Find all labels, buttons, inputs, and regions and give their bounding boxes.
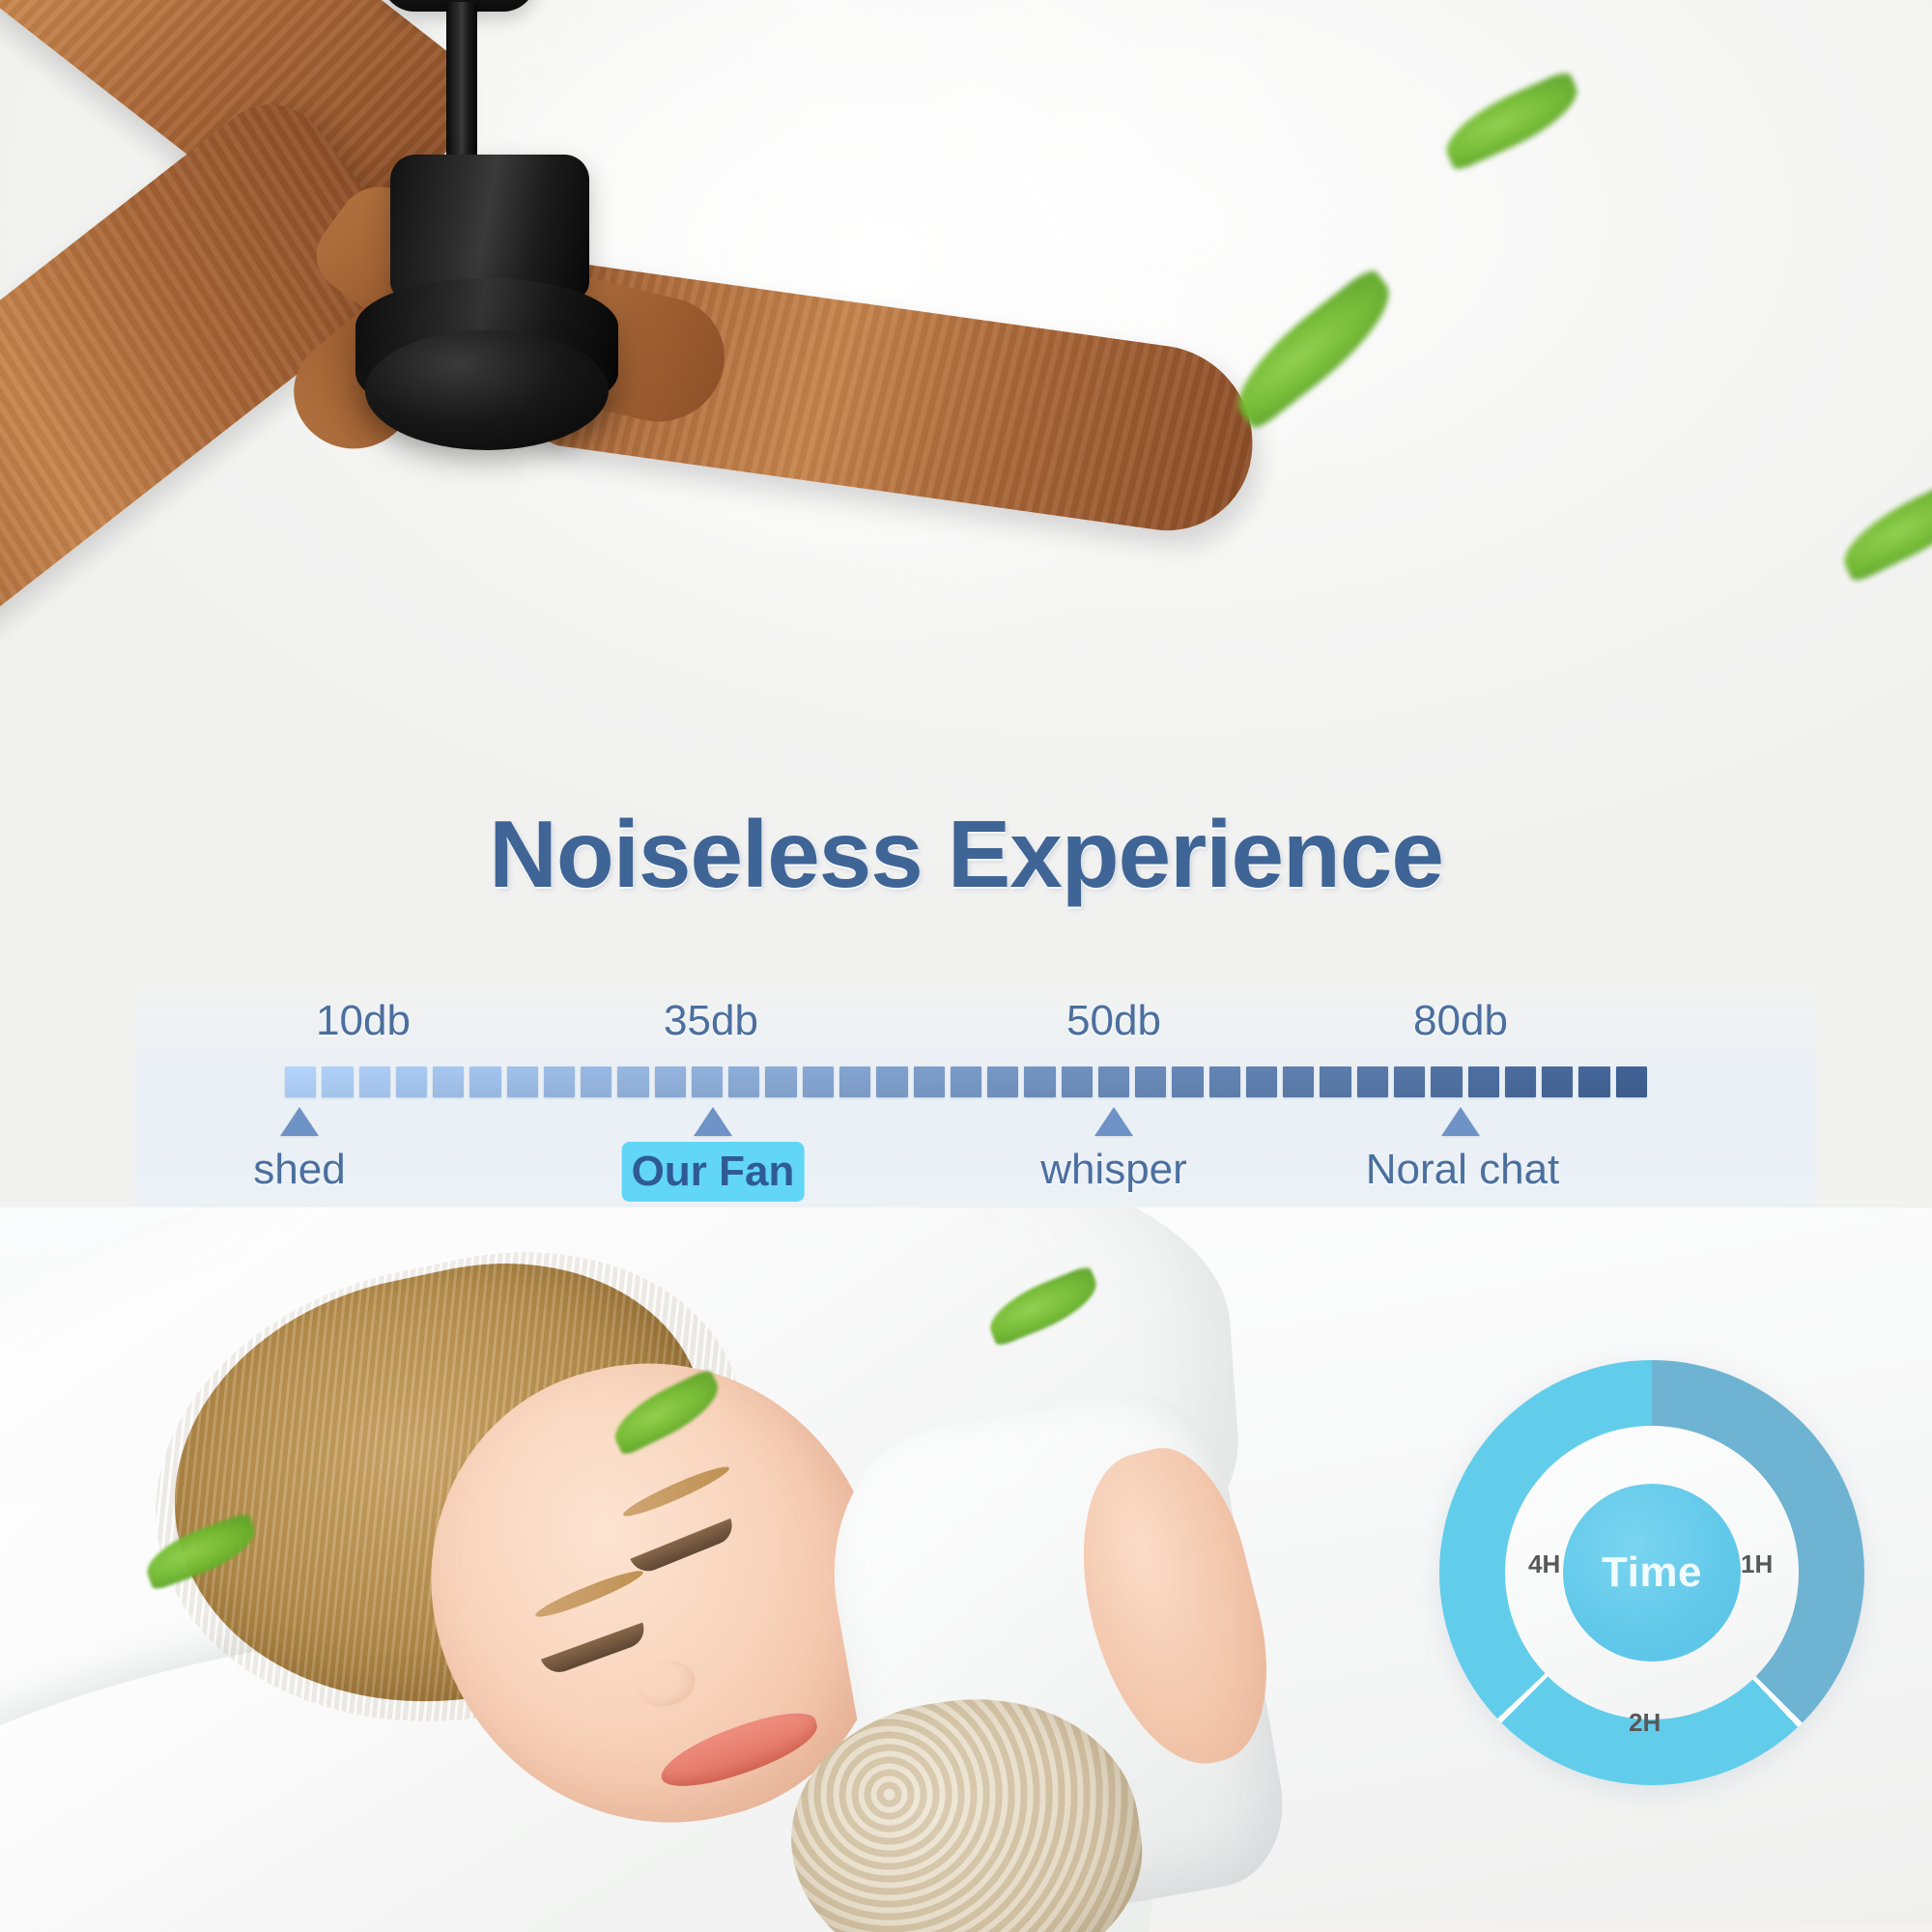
noise-bar-segment bbox=[1394, 1066, 1425, 1097]
marker-label-whisper: whisper bbox=[1040, 1146, 1187, 1194]
noise-bar-segment bbox=[396, 1066, 427, 1097]
noise-bar-segment bbox=[951, 1066, 981, 1097]
noise-bar-segment bbox=[1357, 1066, 1388, 1097]
noise-bar-segment bbox=[617, 1066, 648, 1097]
noise-bar-segment bbox=[803, 1066, 834, 1097]
marker-triangle-whisper bbox=[1094, 1107, 1133, 1136]
marker-label-our-fan: Our Fan bbox=[626, 1146, 801, 1198]
noise-bar-segment bbox=[1578, 1066, 1609, 1097]
leaf-icon bbox=[1833, 471, 1932, 584]
noise-gradient-bar bbox=[285, 1066, 1647, 1097]
db-scale-label: 50db bbox=[1066, 997, 1161, 1045]
db-scale-label: 80db bbox=[1413, 997, 1508, 1045]
db-scale-label: 35db bbox=[664, 997, 758, 1045]
noise-bar-segment bbox=[1098, 1066, 1129, 1097]
noise-bar-segment bbox=[1505, 1066, 1536, 1097]
noise-bar-segment bbox=[285, 1066, 316, 1097]
noise-bar-segment bbox=[1431, 1066, 1462, 1097]
noise-bar-segment bbox=[914, 1066, 945, 1097]
noise-bar-segment bbox=[433, 1066, 464, 1097]
marker-triangle-shed bbox=[280, 1107, 319, 1136]
noise-bar-segment bbox=[469, 1066, 500, 1097]
noise-bar-segment bbox=[987, 1066, 1018, 1097]
noise-bar-segment bbox=[839, 1066, 870, 1097]
noise-bar-segment bbox=[1542, 1066, 1573, 1097]
noise-bar-segment bbox=[765, 1066, 796, 1097]
marker-label-shed: shed bbox=[253, 1146, 345, 1194]
noise-bar-segment bbox=[1062, 1066, 1093, 1097]
timer-segment-label-2h: 2H bbox=[1629, 1708, 1661, 1738]
noise-bar-segment bbox=[359, 1066, 390, 1097]
fan-downrod bbox=[446, 2, 477, 164]
timer-donut-chart: Time 1H 2H 4H bbox=[1439, 1360, 1864, 1785]
noise-bar-segment bbox=[1616, 1066, 1647, 1097]
timer-center-circle: Time bbox=[1563, 1484, 1741, 1662]
marker-triangle-our-fan bbox=[694, 1107, 732, 1136]
noise-bar-segment bbox=[1172, 1066, 1203, 1097]
noise-bar-segment bbox=[1246, 1066, 1277, 1097]
noise-bar-segment bbox=[1135, 1066, 1166, 1097]
fan-motor-cap bbox=[365, 330, 609, 450]
noise-bar-segment bbox=[876, 1066, 907, 1097]
timer-segment-label-1h: 1H bbox=[1741, 1549, 1773, 1579]
noise-bar-segment bbox=[655, 1066, 686, 1097]
timer-segment-label-4h: 4H bbox=[1528, 1549, 1560, 1579]
page-title-wrap: Noiseless Experience bbox=[0, 800, 1932, 909]
noise-bar-segment bbox=[1209, 1066, 1240, 1097]
timer-center-label: Time bbox=[1602, 1548, 1702, 1597]
marker-label-noral-chat: Noral chat bbox=[1366, 1146, 1560, 1194]
noise-bar-segment bbox=[544, 1066, 575, 1097]
noise-bar-segment bbox=[692, 1066, 723, 1097]
page-title: Noiseless Experience bbox=[0, 800, 1932, 909]
noise-bar-segment bbox=[322, 1066, 353, 1097]
noise-bar-segment bbox=[507, 1066, 538, 1097]
noise-bar-segment bbox=[581, 1066, 611, 1097]
noise-bar-segment bbox=[728, 1066, 759, 1097]
marketing-banner: Noiseless Experience 10db 35db 50db 80db… bbox=[0, 0, 1932, 1932]
noise-bar-segment bbox=[1283, 1066, 1314, 1097]
noise-bar-segment bbox=[1468, 1066, 1499, 1097]
noise-bar-segment bbox=[1320, 1066, 1350, 1097]
noise-bar-segment bbox=[1024, 1066, 1055, 1097]
marker-triangle-noral-chat bbox=[1441, 1107, 1480, 1136]
sleeping-child-photo bbox=[116, 1246, 1227, 1922]
db-scale-label: 10db bbox=[316, 997, 411, 1045]
